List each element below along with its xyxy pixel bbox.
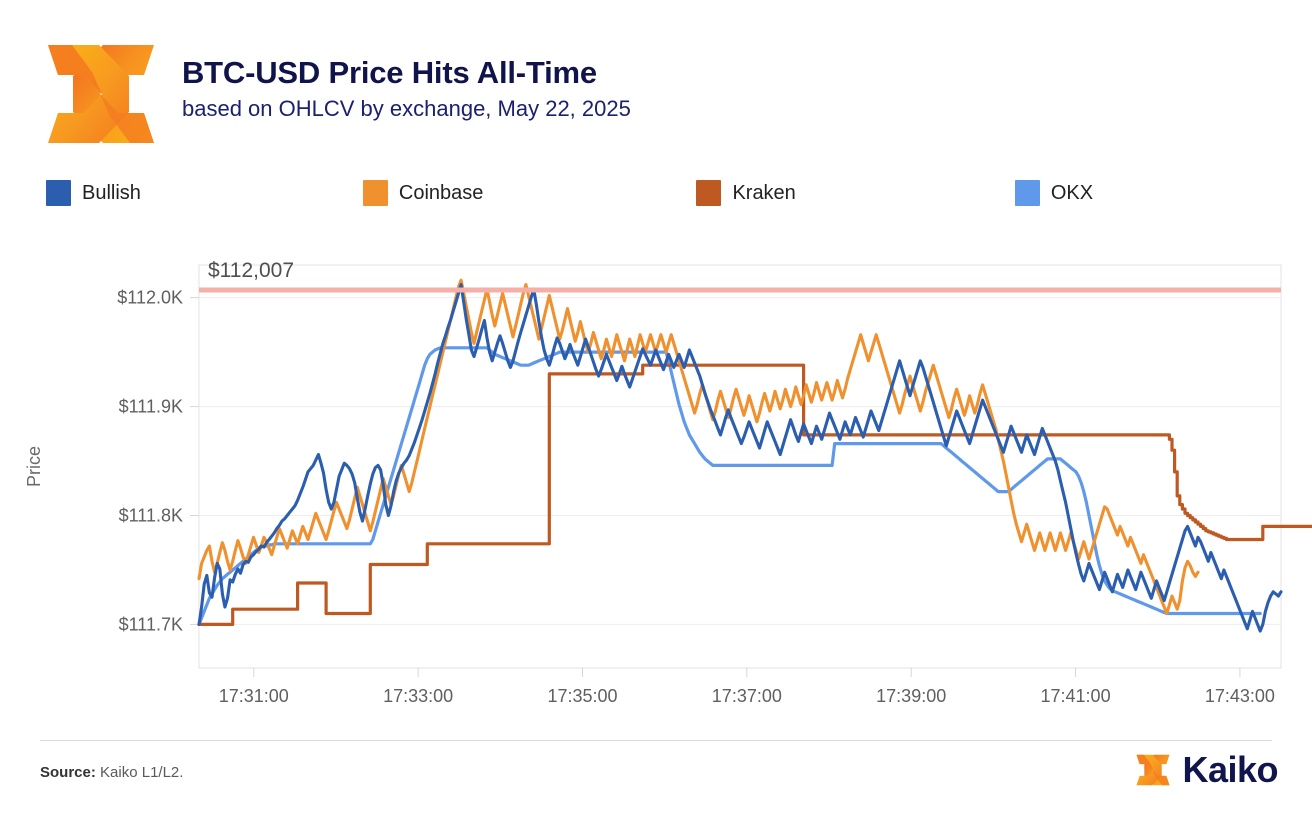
legend-label: OKX xyxy=(1051,182,1093,205)
x-axis-tick-label: 17:33:00 xyxy=(383,686,453,706)
footer-divider xyxy=(40,740,1272,741)
legend-swatch-icon xyxy=(363,180,388,206)
legend-item-bullish[interactable]: Bullish xyxy=(46,180,141,206)
y-axis-tick-label: $111.8K xyxy=(119,506,183,526)
legend-swatch-icon xyxy=(696,180,721,206)
legend-item-kraken[interactable]: Kraken xyxy=(696,180,795,206)
source-note: Source: Kaiko L1/L2. xyxy=(40,764,183,781)
y-axis-tick-label: $111.7K xyxy=(119,614,183,634)
reference-line-label: $112,007 xyxy=(208,259,294,282)
legend-item-coinbase[interactable]: Coinbase xyxy=(363,180,484,206)
y-axis-tick-label: $111.9K xyxy=(119,397,183,417)
y-axis-title: Price xyxy=(24,446,44,487)
x-axis-tick-label: 17:37:00 xyxy=(712,686,782,706)
x-axis-tick-label: 17:39:00 xyxy=(876,686,946,706)
kaiko-hex-logo-icon xyxy=(40,42,162,146)
legend-label: Bullish xyxy=(82,182,141,205)
price-line-chart[interactable]: $111.7K$111.8K$111.9K$112.0KPrice17:31:0… xyxy=(0,248,1312,718)
chart-area: $111.7K$111.8K$111.9K$112.0KPrice17:31:0… xyxy=(0,248,1312,718)
kaiko-wordmark: Kaiko xyxy=(1182,752,1278,788)
x-axis-tick-label: 17:41:00 xyxy=(1041,686,1111,706)
title-block: BTC-USD Price Hits All-Time based on OHL… xyxy=(182,42,631,122)
legend-swatch-icon xyxy=(46,180,71,206)
page-subtitle: based on OHLCV by exchange, May 22, 2025 xyxy=(182,95,631,123)
source-value: Kaiko L1/L2. xyxy=(100,764,183,781)
chart-page: BTC-USD Price Hits All-Time based on OHL… xyxy=(0,0,1312,818)
legend-swatch-icon xyxy=(1015,180,1040,206)
y-axis-tick-label: $112.0K xyxy=(117,288,183,308)
legend-item-okx[interactable]: OKX xyxy=(1015,180,1093,206)
kaiko-hex-logo-icon xyxy=(1134,752,1172,788)
source-label: Source: xyxy=(40,764,96,781)
x-axis-tick-label: 17:43:00 xyxy=(1205,686,1275,706)
footer-brand: Kaiko xyxy=(1134,752,1278,788)
chart-header: BTC-USD Price Hits All-Time based on OHL… xyxy=(40,42,631,146)
legend-label: Kraken xyxy=(732,182,795,205)
legend-label: Coinbase xyxy=(399,182,484,205)
chart-legend: BullishCoinbaseKrakenOKX xyxy=(46,180,1093,206)
x-axis-tick-label: 17:35:00 xyxy=(547,686,617,706)
page-title: BTC-USD Price Hits All-Time xyxy=(182,56,631,91)
x-axis-tick-label: 17:31:00 xyxy=(219,686,289,706)
